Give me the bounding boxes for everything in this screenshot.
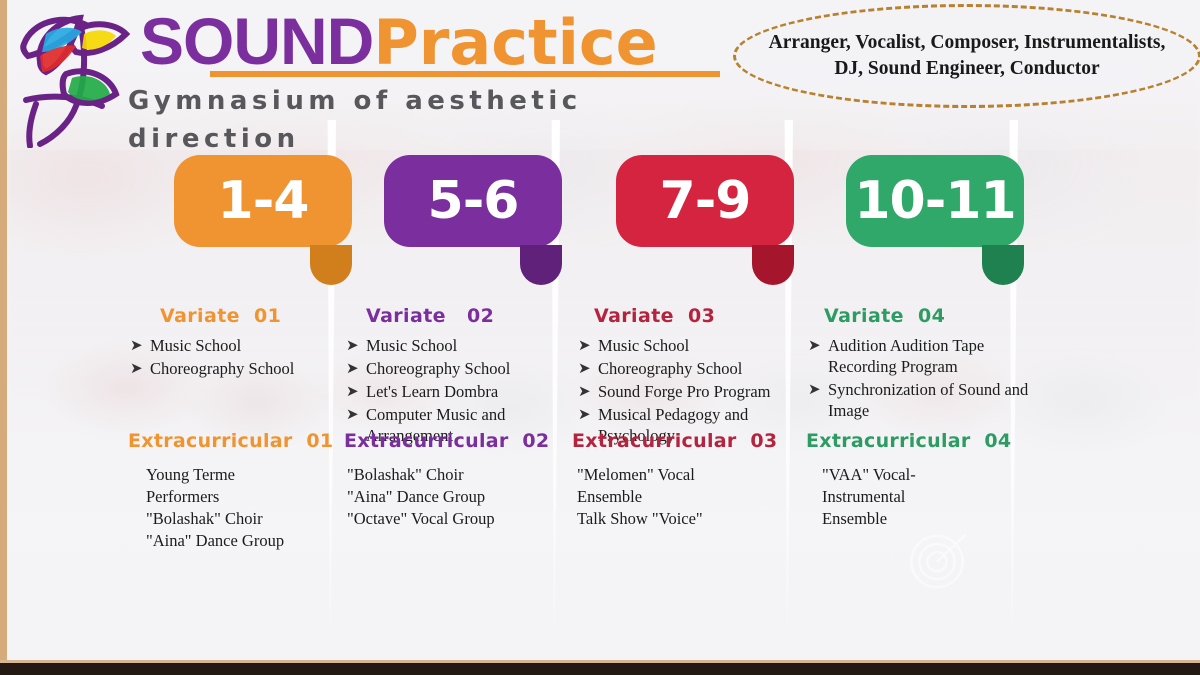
list-item: ➤Choreography School (346, 358, 576, 379)
list-item-label: Choreography School (598, 359, 742, 378)
variate-label: Variate (160, 305, 240, 327)
extracurricular-block-3: Extracurricular 03 "Melomen" Vocal Ensem… (572, 430, 812, 530)
extracurricular-list-3: "Melomen" Vocal Ensemble Talk Show "Voic… (572, 464, 812, 530)
list-item: Performers (146, 486, 360, 508)
arrow-bullet-icon: ➤ (578, 358, 591, 379)
arrow-bullet-icon: ➤ (130, 358, 143, 379)
extracurricular-label: Extracurricular (344, 430, 509, 452)
grade-tab-label: 7-9 (660, 175, 751, 227)
extracurricular-number: 02 (522, 430, 549, 452)
list-item: "Melomen" Vocal (577, 464, 812, 486)
list-item: ➤Let's Learn Dombra (346, 381, 576, 402)
grade-tab-tail (752, 245, 794, 285)
extracurricular-label: Extracurricular (128, 430, 293, 452)
list-item-label: Music School (366, 336, 457, 355)
extracurricular-block-1: Extracurricular 01 Young Terme Performer… (120, 430, 360, 552)
list-item: "Aina" Dance Group (347, 486, 584, 508)
list-item-label: Let's Learn Dombra (366, 382, 498, 401)
variate-heading-4: Variate 04 (806, 305, 1038, 327)
column-1: 1-4 Variate 01 ➤Music School ➤Choreograp… (120, 155, 352, 395)
title-sound: SOUND (140, 4, 373, 78)
grade-tab-label: 1-4 (218, 175, 309, 227)
grade-tab-1[interactable]: 1-4 (174, 155, 352, 247)
page-title: SOUNDPractice (140, 4, 658, 80)
list-item-label: Choreography School (366, 359, 510, 378)
list-item: "Bolashak" Choir (146, 508, 360, 530)
grade-tab-3[interactable]: 7-9 (616, 155, 794, 247)
extracurricular-label: Extracurricular (572, 430, 737, 452)
extracurricular-number: 01 (306, 430, 333, 452)
variate-heading-1: Variate 01 (120, 305, 352, 327)
column-3: 7-9 Variate 03 ➤Music School ➤Choreograp… (578, 155, 810, 462)
arrow-bullet-icon: ➤ (346, 358, 359, 379)
extracurricular-number: 03 (750, 430, 777, 452)
list-item-label: Synchronization of Sound and Image (828, 380, 1028, 420)
list-item: Talk Show "Voice" (577, 508, 812, 530)
variate-number: 04 (918, 305, 945, 327)
list-item-label: Choreography School (150, 359, 294, 378)
variate-number: 03 (688, 305, 715, 327)
list-item-label: Sound Forge Pro Program (598, 382, 771, 401)
extracurricular-heading-1: Extracurricular 01 (120, 430, 360, 452)
grade-tab-tail (982, 245, 1024, 285)
variate-label: Variate (594, 305, 674, 327)
list-item-label: Audition Audition Tape Recording Program (828, 336, 984, 376)
extracurricular-label: Extracurricular (806, 430, 971, 452)
list-item: "Aina" Dance Group (146, 530, 360, 552)
flower-bird-logo (6, 4, 138, 148)
column-4: 10-11 Variate 04 ➤Audition Audition Tape… (806, 155, 1038, 437)
variate-label: Variate (366, 305, 446, 327)
target-watermark-icon (897, 520, 977, 600)
extracurricular-number: 04 (984, 430, 1011, 452)
arrow-bullet-icon: ➤ (346, 404, 359, 425)
list-item: "Octave" Vocal Group (347, 508, 584, 530)
extracurricular-list-1: Young Terme Performers "Bolashak" Choir … (120, 464, 360, 552)
roles-badge-text: Arranger, Vocalist, Composer, Instrument… (736, 30, 1198, 82)
list-item: ➤Music School (578, 335, 810, 356)
list-item: Instrumental (822, 486, 1046, 508)
title-underline (210, 71, 720, 77)
column-2: 5-6 Variate 02 ➤Music School ➤Choreograp… (344, 155, 576, 462)
grade-tab-2[interactable]: 5-6 (384, 155, 562, 247)
extracurricular-block-4: Extracurricular 04 "VAA" Vocal- Instrume… (806, 430, 1046, 530)
grade-tab-label: 5-6 (428, 175, 519, 227)
grade-tab-4[interactable]: 10-11 (846, 155, 1024, 247)
list-item: ➤Sound Forge Pro Program (578, 381, 810, 402)
arrow-bullet-icon: ➤ (808, 335, 821, 356)
extracurricular-heading-4: Extracurricular 04 (806, 430, 1046, 452)
roles-badge: Arranger, Vocalist, Composer, Instrument… (733, 4, 1200, 108)
arrow-bullet-icon: ➤ (346, 335, 359, 356)
extracurricular-heading-3: Extracurricular 03 (572, 430, 812, 452)
list-item-label: Music School (150, 336, 241, 355)
extracurricular-list-4: "VAA" Vocal- Instrumental Ensemble (806, 464, 1046, 530)
extracurricular-heading-2: Extracurricular 02 (344, 430, 584, 452)
extracurricular-list-2: "Bolashak" Choir "Aina" Dance Group "Oct… (344, 464, 584, 530)
list-item: Ensemble (577, 486, 812, 508)
arrow-bullet-icon: ➤ (808, 379, 821, 400)
left-edge-stripe (0, 0, 7, 668)
arrow-bullet-icon: ➤ (130, 335, 143, 356)
grade-tab-tail (520, 245, 562, 285)
arrow-bullet-icon: ➤ (578, 335, 591, 356)
list-item: ➤Audition Audition Tape Recording Progra… (808, 335, 1038, 377)
extracurricular-block-2: Extracurricular 02 "Bolashak" Choir "Ain… (344, 430, 584, 530)
list-item: ➤Choreography School (130, 358, 352, 379)
variate-list-4: ➤Audition Audition Tape Recording Progra… (806, 335, 1038, 421)
variate-label: Variate (824, 305, 904, 327)
list-item: ➤Synchronization of Sound and Image (808, 379, 1038, 421)
list-item: ➤Choreography School (578, 358, 810, 379)
list-item: Young Terme (146, 464, 360, 486)
page-subtitle: Gymnasium of aesthetic direction (128, 82, 728, 158)
slide-canvas: SOUNDPractice Gymnasium of aesthetic dir… (0, 0, 1200, 675)
variate-number: 02 (467, 305, 494, 327)
list-item-label: Music School (598, 336, 689, 355)
arrow-bullet-icon: ➤ (346, 381, 359, 402)
list-item: ➤Music School (130, 335, 352, 356)
list-item: ➤Music School (346, 335, 576, 356)
title-practice: Practice (373, 6, 657, 79)
arrow-bullet-icon: ➤ (578, 404, 591, 425)
grade-tab-label: 10-11 (854, 175, 1015, 227)
variate-heading-3: Variate 03 (578, 305, 810, 327)
variate-list-1: ➤Music School ➤Choreography School (120, 335, 352, 379)
arrow-bullet-icon: ➤ (578, 381, 591, 402)
variate-number: 01 (254, 305, 281, 327)
bottom-edge-bar (0, 663, 1200, 675)
list-item: "Bolashak" Choir (347, 464, 584, 486)
list-item: Ensemble (822, 508, 1046, 530)
list-item: "VAA" Vocal- (822, 464, 1046, 486)
variate-heading-2: Variate 02 (344, 305, 576, 327)
